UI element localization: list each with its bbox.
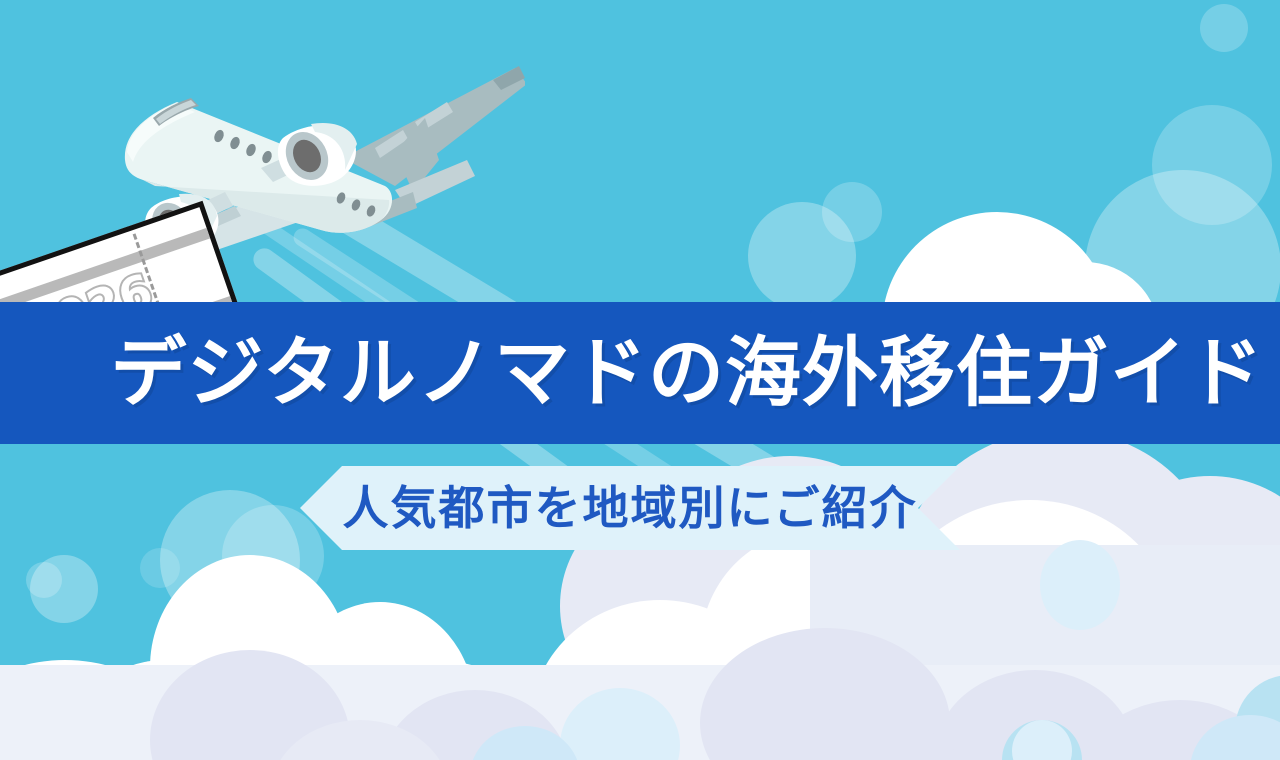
page-title: デジタルノマドの海外移住ガイド [111,335,1264,411]
subtitle-ribbon: 人気都市を地域別にご紹介 [300,466,960,550]
banner-root: 2026 デジタルノマドの海外移住ガイド 人気都市を地域別にご紹介 [0,0,1280,760]
title-bar: デジタルノマドの海外移住ガイド [0,302,1280,444]
subtitle-text: 人気都市を地域別にご紹介 [342,485,917,531]
